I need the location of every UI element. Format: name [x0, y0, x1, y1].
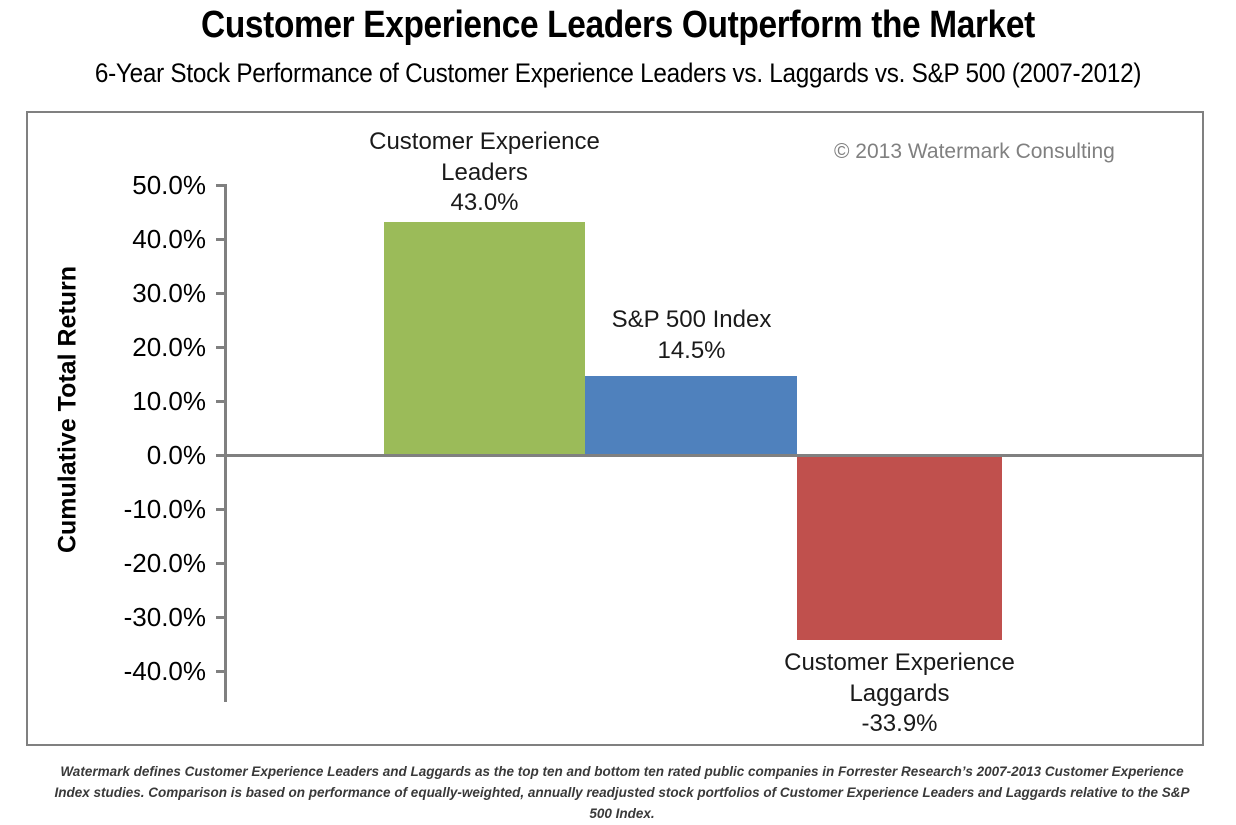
plot-area: © 2013 Watermark Consulting Cumulative T…	[28, 113, 1202, 744]
y-axis-tick-label: -30.0%	[86, 604, 206, 630]
y-axis-tick-label: 20.0%	[86, 334, 206, 360]
y-axis-tick-label: 40.0%	[86, 226, 206, 252]
y-axis-tick-label: 30.0%	[86, 280, 206, 306]
y-axis-tick	[216, 562, 225, 565]
copyright-watermark: © 2013 Watermark Consulting	[834, 140, 1115, 164]
bar-label-sp500: S&P 500 Index 14.5%	[571, 305, 812, 366]
y-axis-tick	[216, 238, 225, 241]
bar-label-laggards-value: -33.9%	[779, 709, 1020, 740]
y-axis-tick	[216, 346, 225, 349]
page-title: Customer Experience Leaders Outperform t…	[74, 4, 1162, 47]
y-axis-tick-labels: 50.0% 40.0% 30.0% 20.0% 10.0% 0.0% -10.0…	[78, 113, 206, 744]
bar-label-leaders-line2: Leaders	[364, 158, 605, 189]
chart-frame: © 2013 Watermark Consulting Cumulative T…	[26, 111, 1204, 746]
y-axis-tick-label: -10.0%	[86, 496, 206, 522]
y-axis-tick-label: -40.0%	[86, 658, 206, 684]
y-axis-tick	[216, 508, 225, 511]
bar-label-laggards: Customer Experience Laggards -33.9%	[779, 648, 1020, 740]
y-axis-tick	[216, 616, 225, 619]
y-axis-tick	[216, 184, 225, 187]
footnote: Watermark defines Customer Experience Le…	[52, 762, 1192, 825]
y-axis-line	[224, 184, 227, 702]
page-subtitle: 6-Year Stock Performance of Customer Exp…	[62, 58, 1174, 89]
bar-label-leaders: Customer Experience Leaders 43.0%	[364, 127, 605, 219]
bar-label-sp500-line1: S&P 500 Index	[571, 305, 812, 336]
bar-label-leaders-line1: Customer Experience	[364, 127, 605, 158]
y-axis-tick-label: 10.0%	[86, 388, 206, 414]
bar-label-sp500-value: 14.5%	[571, 336, 812, 367]
y-axis-tick-label: 0.0%	[86, 442, 206, 468]
bar-customer-experience-laggards[interactable]	[797, 457, 1002, 640]
y-axis-tick	[216, 292, 225, 295]
zero-baseline	[224, 454, 1202, 457]
bar-sp500-index[interactable]	[585, 376, 797, 454]
bar-label-leaders-value: 43.0%	[364, 188, 605, 219]
y-axis-tick-label: -20.0%	[86, 550, 206, 576]
bar-label-laggards-line1: Customer Experience	[779, 648, 1020, 679]
y-axis-tick	[216, 400, 225, 403]
bar-customer-experience-leaders[interactable]	[384, 222, 585, 454]
bar-label-laggards-line2: Laggards	[779, 679, 1020, 710]
y-axis-tick	[216, 670, 225, 673]
y-axis-tick-label: 50.0%	[86, 172, 206, 198]
